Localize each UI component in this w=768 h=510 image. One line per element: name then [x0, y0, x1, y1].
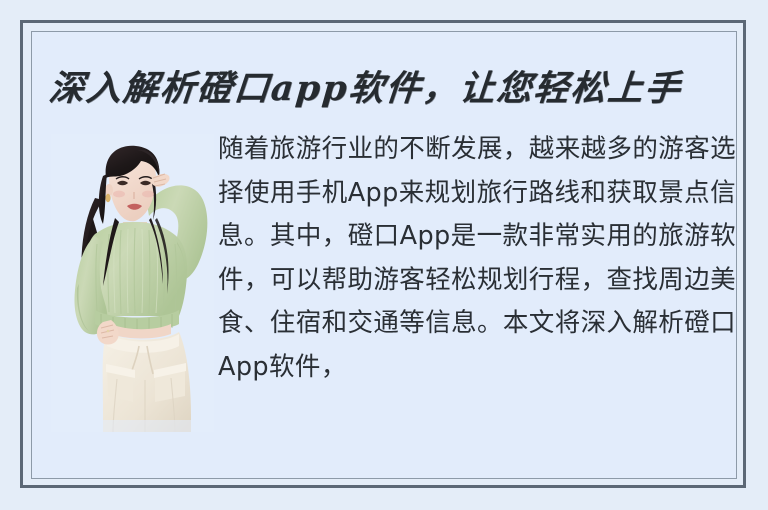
article-card: 深入解析磴口app软件，让您轻松上手 — [0, 0, 768, 510]
inner-decorative-frame: 深入解析磴口app软件，让您轻松上手 — [31, 31, 737, 479]
article-photo — [51, 134, 214, 432]
page-title: 深入解析磴口app软件，让您轻松上手 — [47, 61, 730, 117]
content-area: 随着旅游行业的不断发展，越来越多的游客选择使用手机App来规划旅行路线和获取景点… — [32, 128, 737, 479]
woman-portrait-image — [51, 134, 214, 432]
article-body-text: 随着旅游行业的不断发展，越来越多的游客选择使用手机App来规划旅行路线和获取景点… — [218, 128, 736, 458]
